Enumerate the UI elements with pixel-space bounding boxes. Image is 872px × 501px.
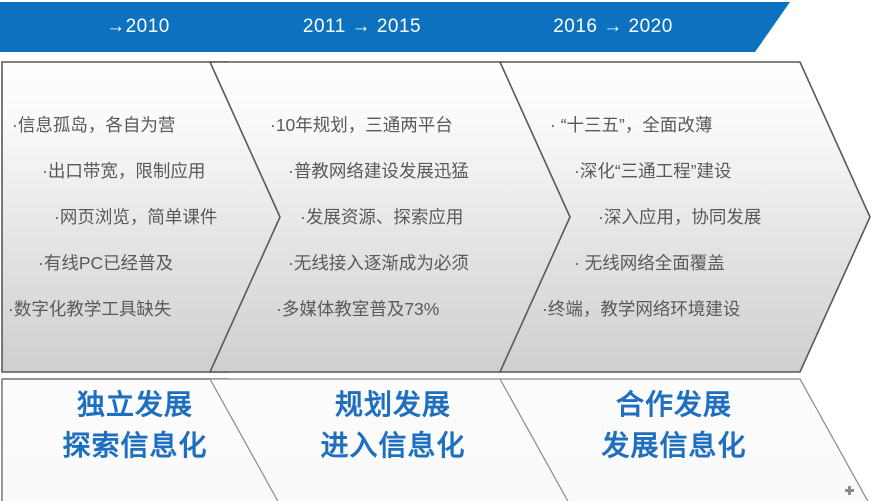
cursor-crosshair-icon	[845, 486, 854, 495]
chevron-shapes-bottom	[0, 377, 872, 501]
period-label-1: →2010	[58, 2, 218, 52]
timeline-banner: →2010 2011 → 2015 2016 → 2020	[0, 2, 872, 52]
period-label-3: 2016 → 2020	[528, 2, 698, 52]
timeline-banner-labels: →2010 2011 → 2015 2016 → 2020	[0, 2, 872, 52]
slide-canvas: →2010 2011 → 2015 2016 → 2020	[0, 0, 872, 501]
stage-chevrons-top-row: ·信息孤岛，各自为营 ·出口带宽，限制应用 ·网页浏览，简单课件 ·有线PC已经…	[0, 60, 872, 374]
chevron-shapes-top	[0, 60, 872, 374]
stage-chevrons-bottom-row: 独立发展 探索信息化 规划发展 进入信息化 合作发展 发展信息化	[0, 377, 872, 501]
period-label-2: 2011 → 2015	[282, 2, 442, 52]
